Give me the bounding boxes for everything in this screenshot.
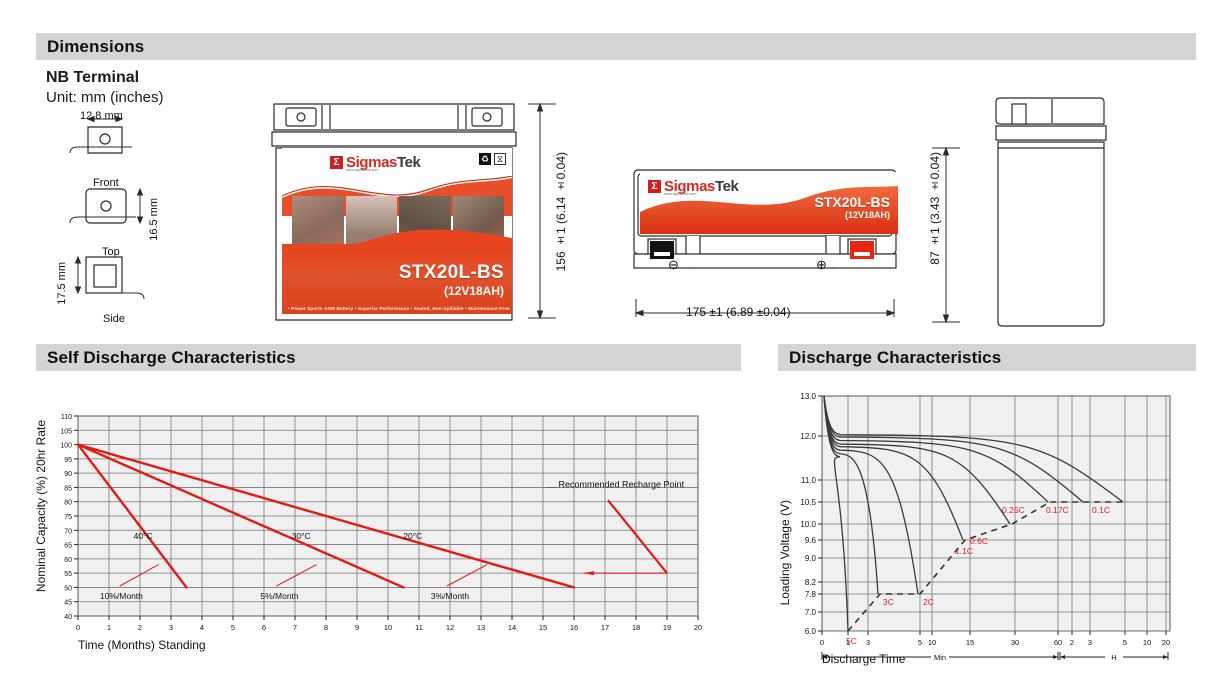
section-header-discharge: Discharge Characteristics xyxy=(778,344,1196,371)
svg-text:3: 3 xyxy=(1088,638,1092,647)
svg-text:0: 0 xyxy=(76,623,80,632)
svg-text:105: 105 xyxy=(60,428,72,435)
battery-capacity-front: (12V18AH) xyxy=(444,284,504,298)
svg-text:60: 60 xyxy=(64,557,72,564)
self-discharge-ylabel: Nominal Capacity (%) 20hr Rate xyxy=(34,420,48,592)
svg-text:8.2: 8.2 xyxy=(805,578,817,587)
side-brand-website: www.sigmastek.com xyxy=(664,192,697,196)
svg-text:5: 5 xyxy=(1123,638,1127,647)
terminal-positive-icon: ⊕ xyxy=(816,257,827,273)
terminal-view-side-label: Side xyxy=(103,313,125,325)
svg-text:16: 16 xyxy=(570,623,578,632)
battery-side-label: Σ SigmasTek www.sigmastek.com STX20L-BS … xyxy=(640,172,898,234)
svg-text:Min: Min xyxy=(934,653,946,660)
svg-text:30°C: 30°C xyxy=(292,531,311,541)
battery-depth-label: 87 ±1 (3.43 ±0.04) xyxy=(928,152,942,265)
svg-text:10: 10 xyxy=(384,623,392,632)
section-title-discharge: Discharge Characteristics xyxy=(789,348,1001,368)
svg-text:95: 95 xyxy=(64,457,72,464)
svg-text:85: 85 xyxy=(64,485,72,492)
svg-text:18: 18 xyxy=(632,623,640,632)
battery-model-side: STX20L-BS xyxy=(815,194,890,210)
svg-text:10: 10 xyxy=(928,638,936,647)
svg-text:7.0: 7.0 xyxy=(805,608,817,617)
side-brand-tek: Tek xyxy=(715,178,739,195)
discharge-chart: 13.012.011.010.510.09.69.08.27.87.06.0 0… xyxy=(780,390,1180,660)
svg-text:15: 15 xyxy=(966,638,974,647)
svg-text:17: 17 xyxy=(601,623,609,632)
svg-text:9.6: 9.6 xyxy=(805,536,817,545)
battery-tagline: • Power Sports AGM Battery • Superior Pe… xyxy=(288,306,508,311)
svg-text:0.1C: 0.1C xyxy=(1092,505,1110,515)
terminal-negative-icon: ⊖ xyxy=(668,257,679,273)
svg-text:5%/Month: 5%/Month xyxy=(260,591,299,601)
svg-text:9.0: 9.0 xyxy=(805,554,817,563)
svg-text:1.1C: 1.1C xyxy=(955,546,973,556)
svg-text:55: 55 xyxy=(64,571,72,578)
svg-text:14: 14 xyxy=(508,623,516,632)
brand-website: www.sigmastek.com xyxy=(346,168,379,172)
svg-text:11.0: 11.0 xyxy=(801,476,817,485)
recycle-icon: ♻ xyxy=(479,153,491,165)
svg-text:10.5: 10.5 xyxy=(800,498,816,507)
svg-text:7: 7 xyxy=(293,623,297,632)
svg-text:2C: 2C xyxy=(923,597,934,607)
svg-text:Recommended Recharge Point: Recommended Recharge Point xyxy=(559,479,685,489)
discharge-xlabel: Discharge Time xyxy=(822,652,905,666)
svg-text:7.8: 7.8 xyxy=(805,590,817,599)
disposal-icon: ⧖ xyxy=(494,153,506,165)
svg-text:13.0: 13.0 xyxy=(800,392,816,401)
svg-text:40: 40 xyxy=(64,614,72,621)
svg-text:70: 70 xyxy=(64,528,72,535)
svg-text:6.0: 6.0 xyxy=(805,627,817,636)
sigma-logo-icon: Σ xyxy=(330,156,343,169)
svg-text:13: 13 xyxy=(477,623,485,632)
svg-text:110: 110 xyxy=(61,414,72,421)
svg-text:3%/Month: 3%/Month xyxy=(431,591,470,601)
terminal-height-label: 16.5 mm xyxy=(148,198,160,241)
sigma-logo-icon-side: Σ xyxy=(648,180,661,193)
terminal-view-front-label: Front xyxy=(93,177,119,189)
svg-text:20: 20 xyxy=(1162,638,1170,647)
svg-text:0.6C: 0.6C xyxy=(970,536,988,546)
svg-text:0.25C: 0.25C xyxy=(1002,505,1025,515)
svg-text:11: 11 xyxy=(415,623,423,632)
svg-text:2: 2 xyxy=(1070,638,1074,647)
nb-terminal-title: NB Terminal xyxy=(46,69,139,87)
discharge-ylabel: Loading Voltage (V) xyxy=(778,500,792,605)
svg-text:10.0: 10.0 xyxy=(800,520,816,529)
svg-text:20°C: 20°C xyxy=(403,531,422,541)
svg-text:12: 12 xyxy=(446,623,454,632)
svg-text:5: 5 xyxy=(231,623,235,632)
section-title-dimensions: Dimensions xyxy=(47,37,144,57)
svg-text:10%/Month: 10%/Month xyxy=(100,591,143,601)
battery-model-front: STX20L-BS xyxy=(399,262,504,284)
unit-note: Unit: mm (inches) xyxy=(46,89,164,106)
svg-text:5: 5 xyxy=(918,638,922,647)
svg-text:3: 3 xyxy=(866,638,870,647)
self-discharge-chart: 404550556065707580859095100105110 012345… xyxy=(36,410,706,640)
svg-text:50: 50 xyxy=(64,585,72,592)
svg-text:80: 80 xyxy=(64,500,72,507)
svg-text:100: 100 xyxy=(60,443,72,450)
svg-text:0.17C: 0.17C xyxy=(1046,505,1069,515)
svg-text:75: 75 xyxy=(64,514,72,521)
svg-text:2: 2 xyxy=(138,623,142,632)
svg-text:10: 10 xyxy=(1143,638,1151,647)
svg-text:15: 15 xyxy=(539,623,547,632)
svg-text:20: 20 xyxy=(694,623,702,632)
svg-text:19: 19 xyxy=(663,623,671,632)
svg-text:3C: 3C xyxy=(883,597,894,607)
svg-text:45: 45 xyxy=(64,600,72,607)
svg-text:12.0: 12.0 xyxy=(800,432,816,441)
battery-capacity-side: (12V18AH) xyxy=(845,210,890,220)
section-header-self-discharge: Self Discharge Characteristics xyxy=(36,344,741,371)
svg-text:60: 60 xyxy=(1054,638,1062,647)
svg-text:9: 9 xyxy=(355,623,359,632)
svg-text:65: 65 xyxy=(64,543,72,550)
self-discharge-plot: 404550556065707580859095100105110 012345… xyxy=(36,410,706,640)
svg-text:3: 3 xyxy=(169,623,173,632)
section-header-dimensions: Dimensions xyxy=(36,33,1196,60)
battery-front-label: Σ SigmasTek www.sigmastek.com ♻ ⧖ STX20L… xyxy=(282,148,512,314)
label-compliance-icons: ♻ ⧖ xyxy=(479,153,506,165)
svg-text:0: 0 xyxy=(820,638,824,647)
svg-text:5C: 5C xyxy=(846,636,857,646)
svg-text:H: H xyxy=(1111,653,1116,660)
terminal-view-top-label: Top xyxy=(102,246,120,258)
discharge-plot: 13.012.011.010.510.09.69.08.27.87.06.0 0… xyxy=(780,390,1180,660)
terminal-width-label: 12.8 mm xyxy=(80,110,123,122)
terminal-depth-label: 17.5 mm xyxy=(56,262,68,305)
svg-text:4: 4 xyxy=(200,623,204,632)
brand-name-tek: Tek xyxy=(397,154,421,171)
svg-text:30: 30 xyxy=(1011,638,1019,647)
battery-height-label: 156 ±1 (6.14 ±0.04) xyxy=(554,152,568,271)
svg-text:8: 8 xyxy=(324,623,328,632)
svg-text:6: 6 xyxy=(262,623,266,632)
svg-text:1: 1 xyxy=(107,623,111,632)
battery-width-label: 175 ±1 (6.89 ±0.04) xyxy=(686,305,791,319)
svg-text:40°C: 40°C xyxy=(134,531,153,541)
self-discharge-xlabel: Time (Months) Standing xyxy=(78,638,206,652)
section-title-self-discharge: Self Discharge Characteristics xyxy=(47,348,296,368)
svg-text:90: 90 xyxy=(64,471,72,478)
